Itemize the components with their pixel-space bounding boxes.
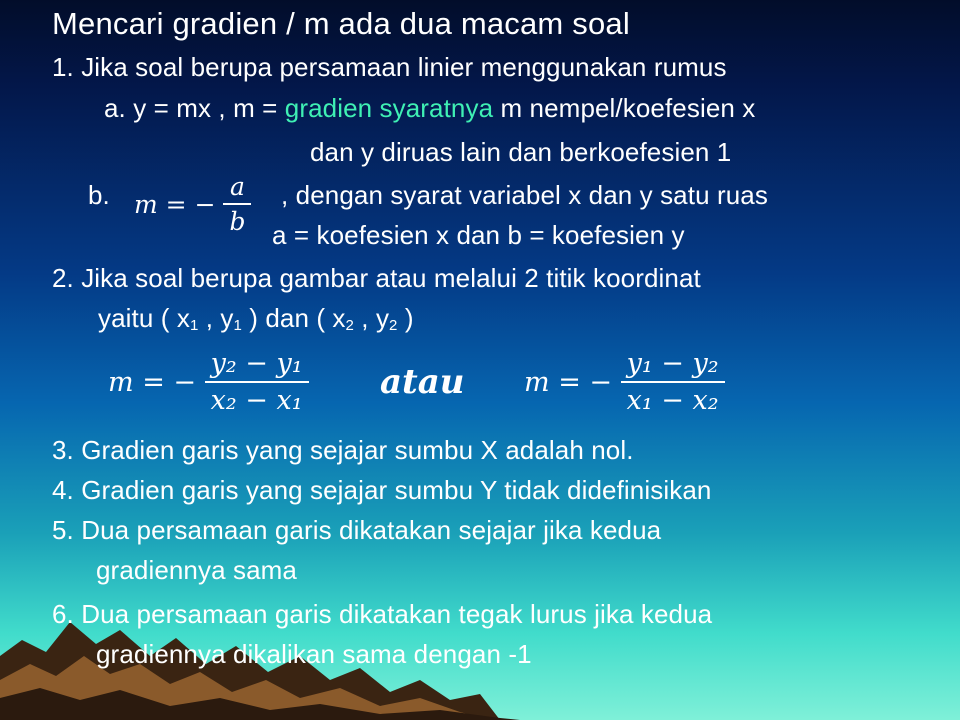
list-item-1b-label: b.: [88, 180, 110, 211]
slide: Mencari gradien / m ada dua macam soal 1…: [0, 0, 960, 720]
list-item-1b-post: , dengan syarat variabel x dan y satu ru…: [281, 180, 768, 211]
coord-mid: , y: [198, 303, 233, 333]
list-item-1a-pre: a. y = mx , m =: [104, 93, 285, 123]
formula-gradien-dua-titik-2: m = − y₁ − y₂ x₁ − x₂: [524, 348, 725, 416]
list-item-5-continued: gradiennya sama: [96, 555, 297, 586]
formula-3-fraction: y₁ − y₂ x₁ − x₂: [621, 348, 725, 416]
formula-2-numerator: y₂ − y₁: [205, 348, 309, 381]
list-item-4: 4. Gradien garis yang sejajar sumbu Y ti…: [52, 475, 711, 506]
list-item-2: 2. Jika soal berupa gambar atau melalui …: [52, 263, 701, 294]
list-item-6-continued: gradiennya dikalikan sama dengan -1: [96, 639, 532, 670]
list-item-1a-continued: dan y diruas lain dan berkoefesien 1: [310, 137, 731, 168]
formula-3-eq: = −: [558, 367, 612, 398]
coord-sub-4: 2: [389, 317, 397, 334]
formula-2-denominator: x₂ − x₁: [205, 381, 309, 416]
list-item-6: 6. Dua persamaan garis dikatakan tegak l…: [52, 599, 712, 630]
list-item-3: 3. Gradien garis yang sejajar sumbu X ad…: [52, 435, 634, 466]
coord-sub-2: 1: [233, 317, 241, 334]
coord-sub-3: 2: [346, 317, 354, 334]
formula-1-denominator: b: [223, 203, 251, 236]
list-item-1a-highlight: gradien syaratnya: [285, 93, 493, 123]
formula-gradien-dua-titik-1: m = − y₂ − y₁ x₂ − x₁: [108, 348, 309, 416]
formula-1-numerator: a: [223, 172, 251, 203]
formula-3-numerator: y₁ − y₂: [621, 348, 725, 381]
page-title: Mencari gradien / m ada dua macam soal: [52, 6, 630, 42]
coord-mid2: ) dan ( x: [242, 303, 346, 333]
formula-1-lhs: m: [134, 190, 158, 219]
list-item-1a: a. y = mx , m = gradien syaratnya m nemp…: [104, 93, 755, 124]
formula-connector-atau: atau: [380, 362, 465, 402]
coord-pre: yaitu ( x: [98, 303, 190, 333]
list-item-2-continued: yaitu ( x1 , y1 ) dan ( x2 , y2 ): [98, 303, 414, 334]
coord-mid3: , y: [354, 303, 389, 333]
list-item-1b-continued: a = koefesien x dan b = koefesien y: [272, 220, 685, 251]
formula-3-denominator: x₁ − x₂: [621, 381, 725, 416]
slide-content: Mencari gradien / m ada dua macam soal 1…: [0, 0, 960, 720]
formula-1-fraction: a b: [223, 172, 251, 236]
list-item-1: 1. Jika soal berupa persamaan linier men…: [52, 52, 727, 83]
formula-2-lhs: m: [108, 367, 134, 398]
formula-3-lhs: m: [524, 367, 550, 398]
coord-end: ): [398, 303, 414, 333]
list-item-5: 5. Dua persamaan garis dikatakan sejajar…: [52, 515, 661, 546]
formula-2-fraction: y₂ − y₁ x₂ − x₁: [205, 348, 309, 416]
formula-gradien-ab: m = − a b: [134, 172, 251, 236]
formula-2-eq: = −: [142, 367, 196, 398]
formula-1-eq: = −: [166, 190, 216, 219]
list-item-1a-post: m nempel/koefesien x: [493, 93, 755, 123]
